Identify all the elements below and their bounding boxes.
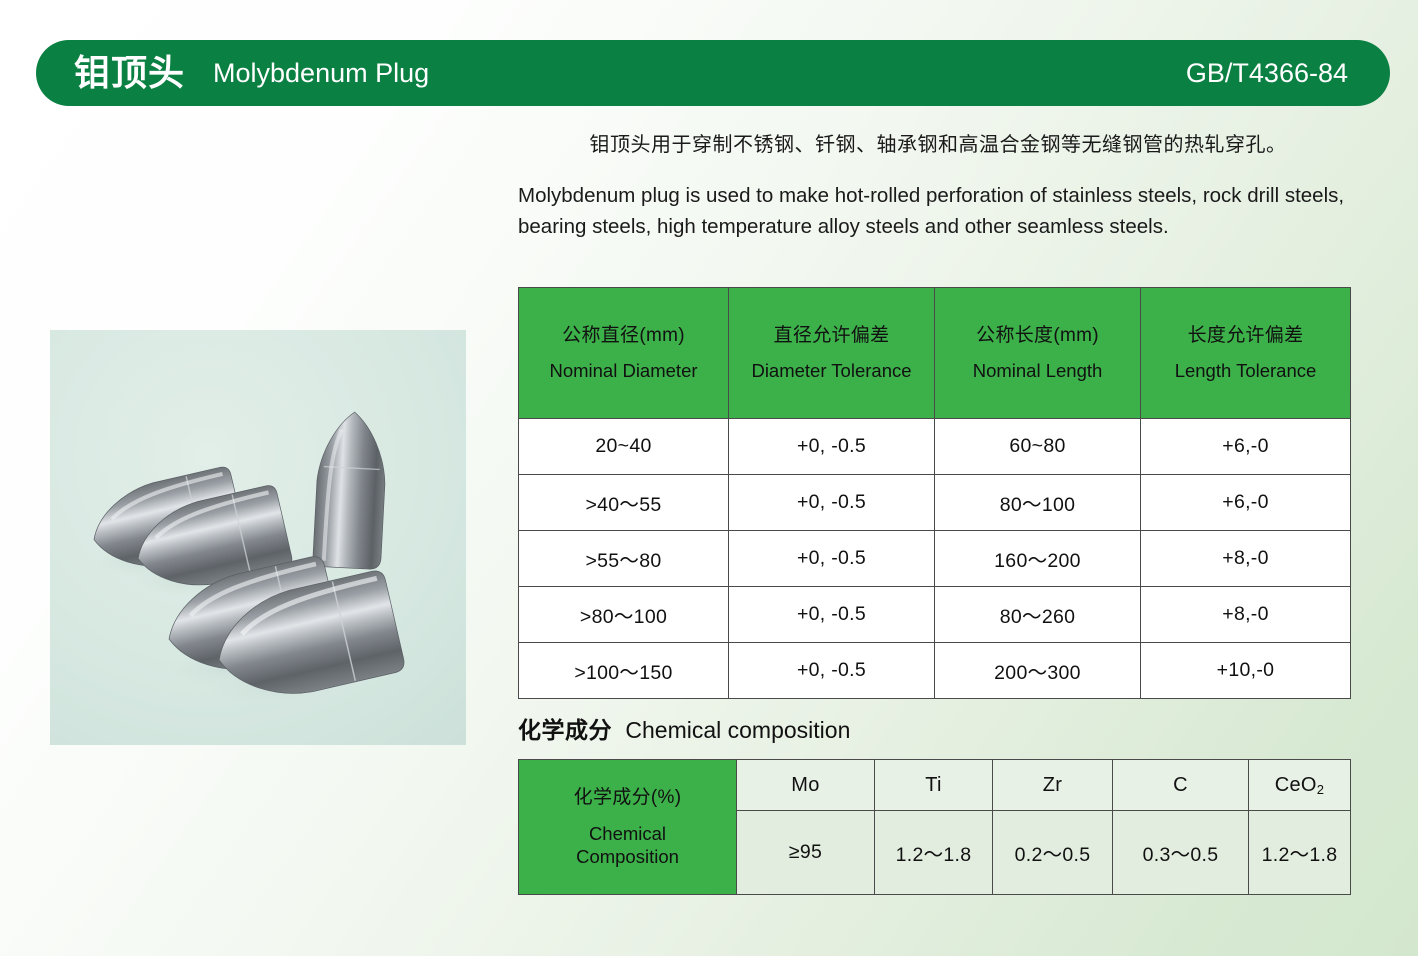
table-row: >100～150 +0, -0.5 200～300 +10,-0 <box>519 643 1351 699</box>
chem-heading-cn: 化学成分 <box>518 717 612 743</box>
element-header-ceo2: CeO2 <box>1249 760 1351 811</box>
chem-label-en-line1: Chemical <box>521 823 734 846</box>
intro-chinese: 钼顶头用于穿制不锈钢、钎钢、轴承钢和高温合金钢等无缝钢管的热轧穿孔。 <box>518 132 1358 159</box>
molybdenum-plugs-illustration <box>50 330 466 745</box>
element-header-mo: Mo <box>737 760 875 811</box>
cell-diameter-tolerance: +0, -0.5 <box>729 643 935 699</box>
cell-nominal-length: 200～300 <box>935 643 1141 699</box>
cell-diameter-tolerance: +0, -0.5 <box>729 419 935 475</box>
table-row: >40～55 +0, -0.5 80～100 +6,-0 <box>519 475 1351 531</box>
cell-nominal-length: 160～200 <box>935 531 1141 587</box>
table-header-row: 公称直径(mm) Nominal Diameter 直径允许偏差 Diamete… <box>519 288 1351 419</box>
table-row: 20~40 +0, -0.5 60~80 +6,-0 <box>519 419 1351 475</box>
header-cn-text: 公称直径(mm) <box>521 324 726 348</box>
element-header-ti: Ti <box>875 760 993 811</box>
element-symbol: C <box>1173 774 1188 796</box>
element-subscript: 2 <box>1317 782 1325 797</box>
element-symbol: Ti <box>925 774 942 796</box>
chem-heading-en: Chemical composition <box>625 717 850 743</box>
page-title-chinese: 钼顶头 <box>74 55 185 91</box>
chem-header-row: 化学成分(%) Chemical Composition Mo Ti Zr C … <box>519 760 1351 811</box>
chemical-composition-table: 化学成分(%) Chemical Composition Mo Ti Zr C … <box>518 759 1351 895</box>
cell-nominal-length: 80～100 <box>935 475 1141 531</box>
header-en-text: Diameter Tolerance <box>731 360 932 383</box>
element-symbol: CeO <box>1275 774 1317 796</box>
element-symbol: Zr <box>1043 774 1062 796</box>
cell-length-tolerance: +8,-0 <box>1141 531 1351 587</box>
header-en-text: Length Tolerance <box>1143 360 1348 383</box>
cell-nominal-diameter: >100～150 <box>519 643 729 699</box>
column-header-nominal-diameter: 公称直径(mm) Nominal Diameter <box>519 288 729 419</box>
chem-row-label: 化学成分(%) Chemical Composition <box>519 760 737 895</box>
cell-length-tolerance: +10,-0 <box>1141 643 1351 699</box>
header-cn-text: 长度允许偏差 <box>1143 324 1348 348</box>
dimension-table: 公称直径(mm) Nominal Diameter 直径允许偏差 Diamete… <box>518 287 1351 699</box>
cell-nominal-diameter: >40～55 <box>519 475 729 531</box>
product-photo <box>50 330 466 745</box>
cell-diameter-tolerance: +0, -0.5 <box>729 531 935 587</box>
chemical-composition-heading: 化学成分 Chemical composition <box>518 711 850 745</box>
header-cn-text: 直径允许偏差 <box>731 324 932 348</box>
header-en-text: Nominal Diameter <box>521 360 726 383</box>
cell-diameter-tolerance: +0, -0.5 <box>729 587 935 643</box>
element-value-mo: ≥95 <box>737 811 875 895</box>
element-value-c: 0.3～0.5 <box>1113 811 1249 895</box>
cell-length-tolerance: +6,-0 <box>1141 419 1351 475</box>
element-value-zr: 0.2～0.5 <box>993 811 1113 895</box>
intro-text-block: 钼顶头用于穿制不锈钢、钎钢、轴承钢和高温合金钢等无缝钢管的热轧穿孔。 Molyb… <box>518 132 1358 243</box>
element-value-ti: 1.2～1.8 <box>875 811 993 895</box>
header-banner: 钼顶头 Molybdenum Plug GB/T4366-84 <box>36 40 1390 106</box>
cell-diameter-tolerance: +0, -0.5 <box>729 475 935 531</box>
cell-nominal-diameter: 20~40 <box>519 419 729 475</box>
cell-length-tolerance: +6,-0 <box>1141 475 1351 531</box>
header-cn-text: 公称长度(mm) <box>937 324 1138 348</box>
element-header-zr: Zr <box>993 760 1113 811</box>
column-header-nominal-length: 公称长度(mm) Nominal Length <box>935 288 1141 419</box>
table-row: >55～80 +0, -0.5 160～200 +8,-0 <box>519 531 1351 587</box>
cell-nominal-length: 60~80 <box>935 419 1141 475</box>
intro-english: Molybdenum plug is used to make hot-roll… <box>518 181 1358 243</box>
page-title-english: Molybdenum Plug <box>213 60 429 87</box>
element-header-c: C <box>1113 760 1249 811</box>
standard-code: GB/T4366-84 <box>1186 60 1348 87</box>
chem-label-en-line2: Composition <box>521 846 734 869</box>
header-en-text: Nominal Length <box>937 360 1138 383</box>
element-symbol: Mo <box>791 774 819 796</box>
cell-nominal-diameter: >80～100 <box>519 587 729 643</box>
cell-length-tolerance: +8,-0 <box>1141 587 1351 643</box>
column-header-length-tolerance: 长度允许偏差 Length Tolerance <box>1141 288 1351 419</box>
column-header-diameter-tolerance: 直径允许偏差 Diameter Tolerance <box>729 288 935 419</box>
element-value-ceo2: 1.2～1.8 <box>1249 811 1351 895</box>
table-row: >80～100 +0, -0.5 80～260 +8,-0 <box>519 587 1351 643</box>
cell-nominal-length: 80～260 <box>935 587 1141 643</box>
chem-label-cn: 化学成分(%) <box>521 786 734 810</box>
cell-nominal-diameter: >55～80 <box>519 531 729 587</box>
